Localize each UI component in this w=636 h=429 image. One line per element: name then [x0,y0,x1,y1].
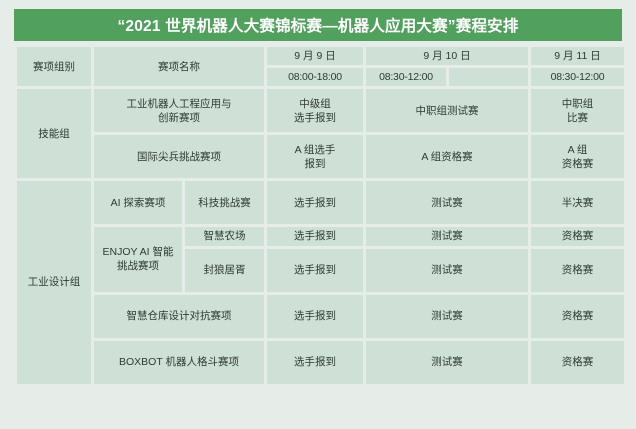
group-label-skills: 技能组 [17,89,91,178]
event-subname: 智慧农场 [185,227,264,245]
cell-day11: 资格赛 [531,295,624,338]
cell-day11-line1: A 组 [568,144,588,156]
cell-day10: A 组资格赛 [366,135,528,178]
header-date-2: 9 月 11 日 [531,47,624,65]
cell-day9: 选手报到 [267,181,363,224]
cell-day11: 资格赛 [531,341,624,384]
page-title: “2021 世界机器人大赛锦标赛—机器人应用大赛”赛程安排 [14,9,622,41]
cell-day11: A 组 资格赛 [531,135,624,178]
cell-day11: 中职组 比赛 [531,89,624,132]
cell-day11: 半决赛 [531,181,624,224]
schedule-table: 赛项组别 赛项名称 9 月 9 日 9 月 10 日 9 月 11 日 08:0… [14,44,627,387]
header-time-0: 08:00-18:00 [267,68,363,86]
header-date-1: 9 月 10 日 [366,47,528,65]
cell-day10: 测试赛 [366,295,528,338]
cell-day9-line1: 中级组 [299,98,331,110]
event-name: ENJOY AI 智能 挑战赛项 [94,227,182,291]
event-name-line2: 创新赛项 [158,112,200,124]
cell-day9-line2: 报到 [305,158,326,170]
cell-day10: 中职组测试赛 [366,89,528,132]
cell-day10: 测试赛 [366,181,528,224]
event-subname: 科技挑战赛 [185,181,264,224]
table-row: 国际尖兵挑战赛项 A 组选手 报到 A 组资格赛 A 组 资格赛 [17,135,624,178]
cell-day9-line1: A 组选手 [295,144,336,156]
header-group-col: 赛项组别 [17,47,91,86]
header-time-1: 08:30-12:00 [366,68,446,86]
event-name: 智慧仓库设计对抗赛项 [94,295,264,338]
event-name: 国际尖兵挑战赛项 [94,135,264,178]
cell-day9: A 组选手 报到 [267,135,363,178]
event-name-line2: 挑战赛项 [117,260,159,272]
cell-day10: 测试赛 [366,341,528,384]
event-name-line1: ENJOY AI 智能 [103,246,174,258]
group-label-industrial-design: 工业设计组 [17,181,91,383]
header-date-0: 9 月 9 日 [267,47,363,65]
cell-day11: 资格赛 [531,227,624,245]
header-time-2 [449,68,528,86]
table-row: 智慧仓库设计对抗赛项 选手报到 测试赛 资格赛 [17,295,624,338]
cell-day9: 选手报到 [267,227,363,245]
cell-day10: 测试赛 [366,227,528,245]
header-name-col: 赛项名称 [94,47,264,86]
table-header-row-dates: 赛项组别 赛项名称 9 月 9 日 9 月 10 日 9 月 11 日 [17,47,624,65]
event-name: 工业机器人工程应用与 创新赛项 [94,89,264,132]
cell-day10: 测试赛 [366,249,528,292]
cell-day11-line2: 资格赛 [562,158,594,170]
table-row: 工业设计组 AI 探索赛项 科技挑战赛 选手报到 测试赛 半决赛 [17,181,624,224]
event-subname: 封狼居胥 [185,249,264,292]
header-time-3: 08:30-12:00 [531,68,624,86]
cell-day11-line2: 比赛 [567,112,588,124]
cell-day9: 选手报到 [267,249,363,292]
cell-day11-line1: 中职组 [562,98,594,110]
cell-day9: 选手报到 [267,295,363,338]
event-name-line1: 工业机器人工程应用与 [127,98,232,110]
schedule-page: “2021 世界机器人大赛锦标赛—机器人应用大赛”赛程安排 赛项组别 赛项名称 … [0,0,636,429]
cell-day9: 选手报到 [267,341,363,384]
event-name: AI 探索赛项 [94,181,182,224]
cell-day9: 中级组 选手报到 [267,89,363,132]
table-row: 技能组 工业机器人工程应用与 创新赛项 中级组 选手报到 中职组测试赛 中职组 … [17,89,624,132]
cell-day11: 资格赛 [531,249,624,292]
event-name: BOXBOT 机器人格斗赛项 [94,341,264,384]
table-row: ENJOY AI 智能 挑战赛项 智慧农场 选手报到 测试赛 资格赛 [17,227,624,245]
table-row: BOXBOT 机器人格斗赛项 选手报到 测试赛 资格赛 [17,341,624,384]
cell-day9-line2: 选手报到 [294,112,336,124]
